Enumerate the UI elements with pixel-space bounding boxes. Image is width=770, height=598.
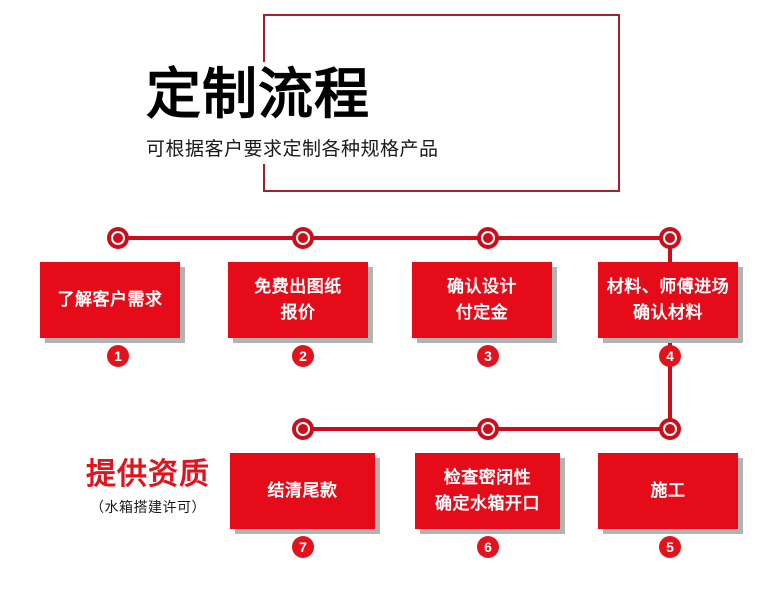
qualification-title: 提供资质 <box>58 458 238 491</box>
step-box-2[interactable]: 免费出图纸 报价 <box>228 262 368 338</box>
step-box-2-line-2: 报价 <box>254 300 342 326</box>
header-text-block: 定制流程 可根据客户要求定制各种规格产品 <box>146 66 666 161</box>
step-box-5[interactable]: 施工 <box>598 453 738 529</box>
step-badge-3: 3 <box>477 345 499 367</box>
step-box-7-line-1: 结清尾款 <box>268 478 338 504</box>
step-box-7[interactable]: 结清尾款 <box>230 453 375 529</box>
step-box-6[interactable]: 检查密闭性 确定水箱开口 <box>415 453 560 529</box>
node-step-4 <box>659 227 681 249</box>
row1-connector-line <box>118 236 670 240</box>
step-badge-5: 5 <box>659 536 681 558</box>
node-step-2 <box>292 227 314 249</box>
step-box-4[interactable]: 材料、师傅进场 确认材料 <box>598 262 738 338</box>
step-badge-4: 4 <box>659 345 681 367</box>
node-step-3 <box>477 227 499 249</box>
step-box-4-line-1: 材料、师傅进场 <box>607 274 730 300</box>
step-box-3-text: 确认设计 付定金 <box>447 274 517 327</box>
step-box-1[interactable]: 了解客户需求 <box>40 262 180 338</box>
page-subtitle: 可根据客户要求定制各种规格产品 <box>146 134 666 161</box>
customization-flow-infographic: 定制流程 可根据客户要求定制各种规格产品 了解客户需求 1 免费出图纸 报价 2… <box>0 0 770 598</box>
step-box-3[interactable]: 确认设计 付定金 <box>412 262 552 338</box>
node-step-7 <box>292 418 314 440</box>
step-badge-7: 7 <box>292 536 314 558</box>
step-badge-2: 2 <box>292 345 314 367</box>
step-box-1-text: 了解客户需求 <box>58 287 163 313</box>
qualification-label: 提供资质 （水箱搭建许可） <box>58 458 238 517</box>
step-box-3-line-1: 确认设计 <box>447 274 517 300</box>
step-badge-6: 6 <box>477 536 499 558</box>
step-box-2-text: 免费出图纸 报价 <box>254 274 342 327</box>
step-box-6-text: 检查密闭性 确定水箱开口 <box>435 465 540 518</box>
node-step-5 <box>659 418 681 440</box>
step-box-4-text: 材料、师傅进场 确认材料 <box>607 274 730 327</box>
node-step-1 <box>107 227 129 249</box>
page-title: 定制流程 <box>146 66 666 124</box>
step-box-4-line-2: 确认材料 <box>607 300 730 326</box>
step-box-7-text: 结清尾款 <box>268 478 338 504</box>
step-box-1-line-1: 了解客户需求 <box>58 287 163 313</box>
node-step-6 <box>477 418 499 440</box>
qualification-subtitle: （水箱搭建许可） <box>58 497 238 517</box>
step-box-6-line-2: 确定水箱开口 <box>435 491 540 517</box>
step-box-5-line-1: 施工 <box>651 478 686 504</box>
step-box-5-text: 施工 <box>651 478 686 504</box>
step-box-6-line-1: 检查密闭性 <box>435 465 540 491</box>
step-box-3-line-2: 付定金 <box>447 300 517 326</box>
step-box-2-line-1: 免费出图纸 <box>254 274 342 300</box>
step-badge-1: 1 <box>107 345 129 367</box>
